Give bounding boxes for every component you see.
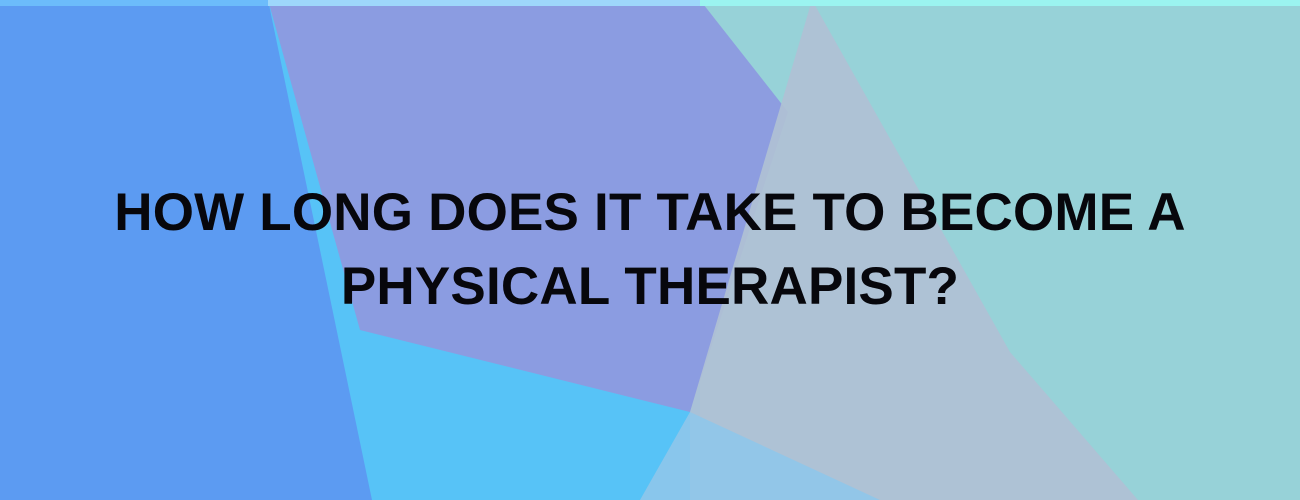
shape-top-strip-cyan [700, 0, 1300, 6]
shape-top-strip-blue [0, 0, 268, 6]
background-geometric-art [0, 0, 1300, 500]
shape-top-strip-light [268, 0, 700, 6]
hero-banner: HOW LONG DOES IT TAKE TO BECOME A PHYSIC… [0, 0, 1300, 500]
